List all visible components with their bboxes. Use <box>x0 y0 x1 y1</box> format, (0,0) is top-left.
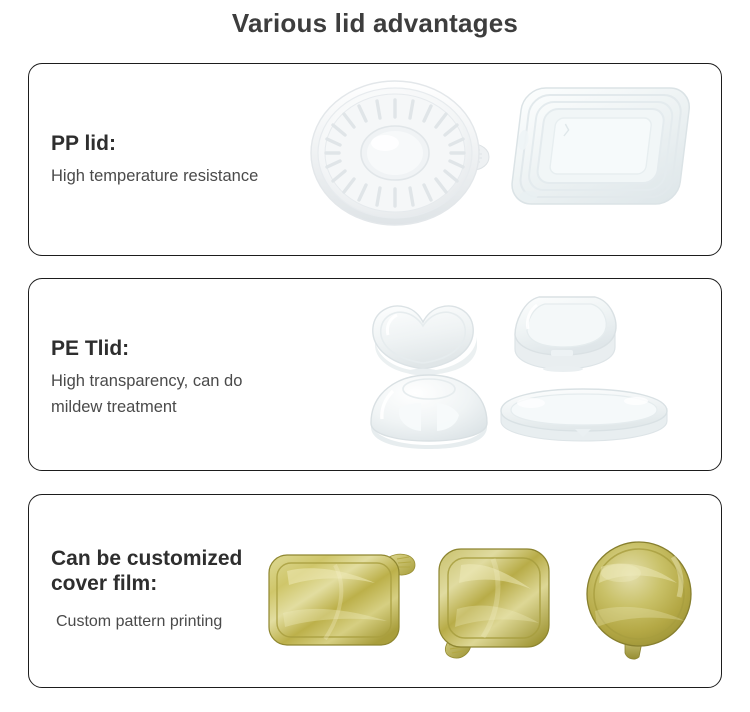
gold-round-foil-lid-image <box>569 539 717 663</box>
infographic-page: Various lid advantages PP lid: High temp… <box>0 0 750 712</box>
dome-cup-pe-lid-image <box>359 369 509 449</box>
pe-lid-subtitle: High transparency, can do mildew treatme… <box>51 368 341 421</box>
heart-shaped-pe-lid-image <box>357 287 507 377</box>
pe-lid-heading: PE Tlid: <box>51 337 341 362</box>
pe-lid-text-block: PE Tlid: High transparency, can do milde… <box>51 337 341 421</box>
oval-pe-lid-image <box>491 383 681 449</box>
gold-rectangular-foil-lid-image <box>265 543 425 651</box>
pp-lid-heading: PP lid: <box>51 132 341 157</box>
card-pe-lid: PE Tlid: High transparency, can do milde… <box>28 278 722 471</box>
page-title: Various lid advantages <box>0 8 750 39</box>
pp-lid-text-block: PP lid: High temperature resistance <box>51 132 341 189</box>
gold-square-foil-lid-image <box>431 543 563 663</box>
card-pp-lid: PP lid: High temperature resistance <box>28 63 722 256</box>
pp-lid-subtitle: High temperature resistance <box>51 163 341 189</box>
rectangular-pp-lid-image <box>499 78 709 228</box>
round-pp-lid-image <box>307 73 497 233</box>
card-cover-film: Can be customized cover film: Custom pat… <box>28 494 722 688</box>
square-pe-lid-image <box>499 287 639 375</box>
